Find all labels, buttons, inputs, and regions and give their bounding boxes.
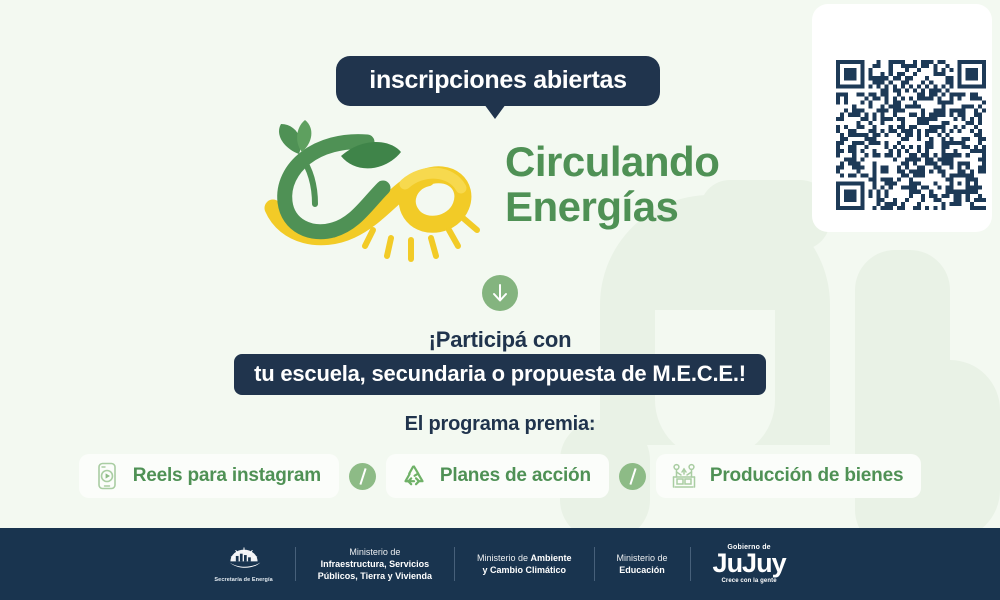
prize-chip-reels[interactable]: Reels para instagram xyxy=(79,454,339,498)
arrow-down-icon xyxy=(482,275,518,311)
promo-poster: inscripciones abiertas xyxy=(0,0,1000,600)
ministry-name-line1: Infraestructura, Servicios xyxy=(318,558,432,570)
secretaria-energia-emblem xyxy=(224,546,264,575)
badge-body: inscripciones abiertas xyxy=(336,56,660,106)
secretaria-energia-logo: Secretaría de Energía xyxy=(192,541,294,587)
brand-name-line2: Energías xyxy=(505,185,719,230)
cta-highlight-bar: tu escuela, secundaria o propuesta de M.… xyxy=(234,354,766,395)
ministry-name-line2: Públicos, Tierra y Vivienda xyxy=(318,570,432,582)
footer-bar: Secretaría de Energía Ministerio de Infr… xyxy=(0,528,1000,600)
cta-line-2: tu escuela, secundaria o propuesta de M.… xyxy=(254,361,746,386)
recycle-icon xyxy=(400,461,428,491)
brand-lockup: Circulando Energías xyxy=(255,112,755,262)
background-watermark-shape xyxy=(855,250,950,550)
ministry-lead: Ministerio de xyxy=(617,552,668,564)
gobierno-name: JuJuy xyxy=(713,551,786,577)
qr-code[interactable] xyxy=(836,60,986,210)
prize-chip-produccion[interactable]: Producción de bienes xyxy=(656,454,921,498)
phone-reel-play-icon xyxy=(93,461,121,491)
ministry-infraestructura: Ministerio de Infraestructura, Servicios… xyxy=(296,541,454,587)
secretaria-energia-caption: Secretaría de Energía xyxy=(214,577,272,583)
ministry-lead: Ministerio de xyxy=(318,546,432,558)
gobierno-slogan: Crece con la gente xyxy=(721,578,776,584)
prize-chip-label: Planes de acción xyxy=(440,465,591,487)
ministry-educacion: Ministerio de Educación xyxy=(595,541,690,587)
scroll-down-indicator xyxy=(482,275,518,311)
brand-wordmark: Circulando Energías xyxy=(505,140,719,230)
ministry-ambiente: Ministerio de Ambiente y Cambio Climátic… xyxy=(455,541,594,587)
workbench-people-icon xyxy=(670,461,698,491)
prizes-row: Reels para instagram Planes de a xyxy=(40,452,960,500)
circulando-energias-logo-icon xyxy=(255,112,490,262)
ministry-name-line1: Ambiente xyxy=(531,553,572,563)
brand-name-line1: Circulando xyxy=(505,140,719,185)
ministry-name-line1: Educación xyxy=(617,564,668,576)
ministry-name-line2: y Cambio Climático xyxy=(477,564,572,576)
prize-chip-label: Reels para instagram xyxy=(133,465,321,487)
slash-circle-icon xyxy=(619,463,646,490)
inscriptions-open-badge: inscripciones abiertas xyxy=(336,56,660,106)
cta-line-1: ¡Participá con xyxy=(0,327,1000,353)
slash-circle-icon xyxy=(349,463,376,490)
prize-chip-label: Producción de bienes xyxy=(710,465,903,487)
prize-chip-planes[interactable]: Planes de acción xyxy=(386,454,609,498)
gobierno-jujuy-logo: Gobierno de JuJuy Crece con la gente xyxy=(691,541,808,587)
badge-label: inscripciones abiertas xyxy=(369,66,626,94)
ministry-line-a: Ministerio de Ambiente xyxy=(477,552,572,564)
qr-card[interactable] xyxy=(812,4,992,232)
ministry-lead: Ministerio de xyxy=(477,553,531,563)
prizes-heading: El programa premia: xyxy=(0,413,1000,436)
cta-highlight: tu escuela, secundaria o propuesta de M.… xyxy=(0,354,1000,395)
